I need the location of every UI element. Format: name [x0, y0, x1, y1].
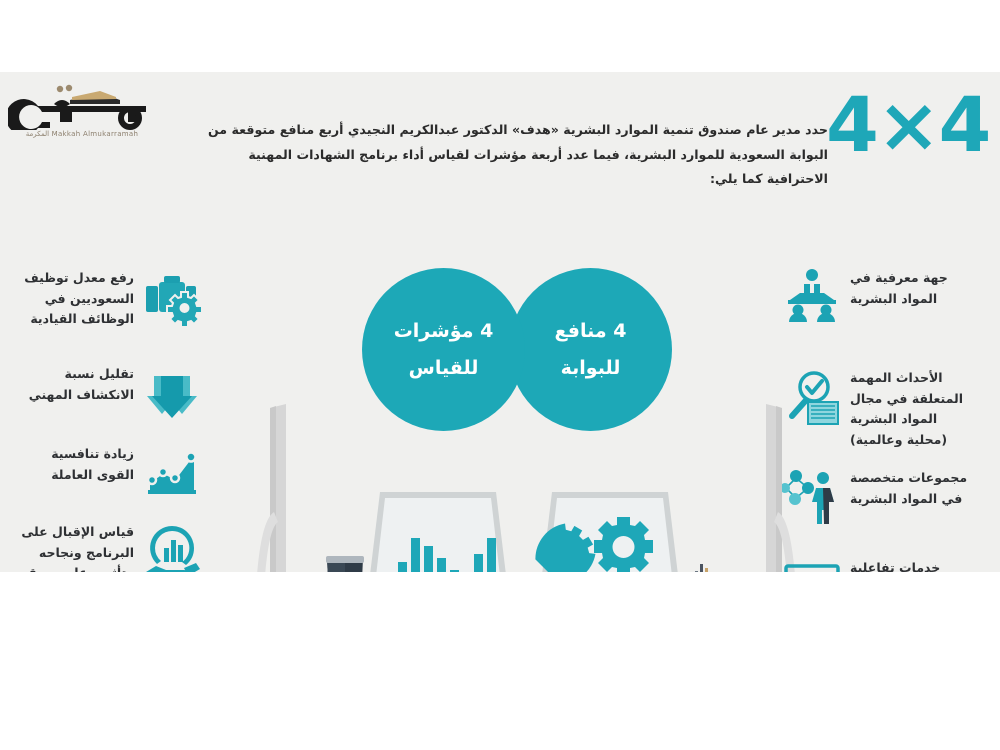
benefit-label-3: مجموعات متخصصة في المواد البشرية — [842, 468, 968, 509]
magnifier-documents-icon — [782, 368, 842, 428]
circle-indicators-line2: للقياس — [409, 350, 479, 386]
benefit-item-1[interactable]: جهة معرفية في المواد البشرية — [782, 268, 968, 328]
indicator-item-4[interactable]: قياس الإقبال على البرنامج ونجاحه وتأثيره… — [16, 522, 202, 572]
indicator-item-3[interactable]: زيادة تنافسية القوى العاملة — [16, 444, 202, 504]
network-person-icon — [782, 468, 842, 528]
laptop-right — [530, 490, 690, 572]
pen-holder — [686, 562, 722, 572]
circle-benefits-line2: للبوابة — [561, 350, 621, 386]
circle-indicators-line1: 4 مؤشرات — [394, 313, 494, 349]
benefit-label-2: الأحداث المهمة المتعلقة في مجال المواد ا… — [842, 368, 968, 451]
circle-indicators[interactable]: 4 مؤشرات للقياس — [362, 268, 525, 431]
benefit-item-3[interactable]: مجموعات متخصصة في المواد البشرية — [782, 468, 968, 528]
footer-whitespace — [0, 572, 1000, 750]
infographic-canvas: 4 مؤشرات للقياس 4 منافع للبوابة — [0, 0, 1000, 750]
indicator-item-2[interactable]: تقليل نسبة الانكشاف المهني — [16, 364, 202, 424]
circle-benefits[interactable]: 4 منافع للبوابة — [509, 268, 672, 431]
indicator-item-1[interactable]: رفع معدل توظيف السعوديين في الوظائف القي… — [16, 268, 202, 330]
circle-benefits-line1: 4 منافع — [555, 313, 627, 349]
line-chart-up-icon — [142, 444, 202, 504]
benefit-item-4[interactable]: خدمات تفاعلية — [782, 558, 968, 572]
headline-text: حدد مدير عام صندوق تنمية الموارد البشرية… — [188, 118, 828, 192]
benefit-label-4: خدمات تفاعلية — [842, 558, 968, 572]
monitor-chart-icon — [782, 558, 842, 572]
benefit-label-1: جهة معرفية في المواد البشرية — [842, 268, 968, 309]
indicator-label-4: قياس الإقبال على البرنامج ونجاحه وتأثيره… — [16, 522, 142, 572]
makkah-logo-icon — [8, 84, 158, 130]
hand-bar-chart-icon — [142, 522, 202, 572]
down-arrows-icon — [142, 364, 202, 424]
indicator-label-2: تقليل نسبة الانكشاف المهني — [16, 364, 142, 405]
big-title-4x4: 4×4 — [826, 86, 986, 164]
people-podium-icon — [782, 268, 842, 328]
makkah-logo-subtitle: Makkah Almukarramah المكرمة — [12, 130, 152, 138]
benefit-item-2[interactable]: الأحداث المهمة المتعلقة في مجال المواد ا… — [782, 368, 968, 451]
indicator-label-1: رفع معدل توظيف السعوديين في الوظائف القي… — [16, 268, 142, 330]
laptop-left — [358, 490, 518, 572]
monitor-left — [252, 402, 322, 572]
makkah-logo[interactable]: Makkah Almukarramah المكرمة — [8, 84, 158, 148]
briefcase-gear-icon — [142, 268, 202, 328]
indicator-label-3: زيادة تنافسية القوى العاملة — [16, 444, 142, 485]
